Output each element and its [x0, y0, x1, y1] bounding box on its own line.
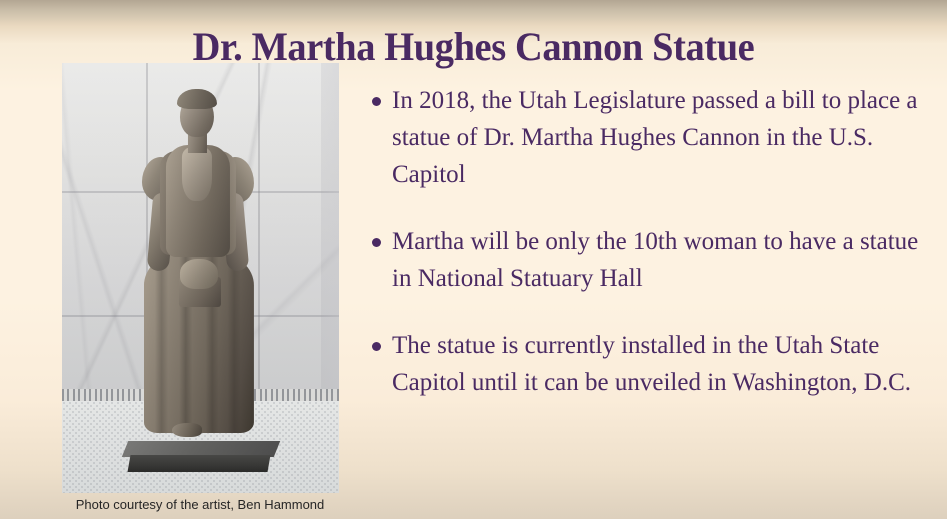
wall-corner-edge	[321, 63, 339, 393]
list-item: The statue is currently installed in the…	[366, 327, 932, 401]
list-item-label: Martha will be only the 10th woman to ha…	[392, 223, 932, 297]
bullet-dot-icon	[372, 97, 381, 106]
statue-plinth	[125, 441, 277, 475]
photo-caption: Photo courtesy of the artist, Ben Hammon…	[40, 496, 360, 513]
bullet-dot-icon	[372, 342, 381, 351]
statue-collar	[181, 147, 211, 201]
photo-inner	[62, 63, 339, 493]
list-item-label: The statue is currently installed in the…	[392, 327, 932, 401]
statue-photo	[62, 63, 339, 493]
statue-figure	[121, 81, 273, 453]
list-item: In 2018, the Utah Legislature passed a b…	[366, 82, 932, 193]
bullet-list: In 2018, the Utah Legislature passed a b…	[366, 82, 932, 401]
list-item: Martha will be only the 10th woman to ha…	[366, 223, 932, 297]
list-item-label: In 2018, the Utah Legislature passed a b…	[392, 82, 932, 193]
statue-hair	[176, 89, 216, 109]
statue-hands	[179, 259, 217, 289]
plinth-front-face	[127, 455, 270, 472]
presentation-slide: Dr. Martha Hughes Cannon Statue	[0, 0, 947, 519]
bullet-dot-icon	[372, 238, 381, 247]
statue-shoe	[171, 423, 201, 437]
